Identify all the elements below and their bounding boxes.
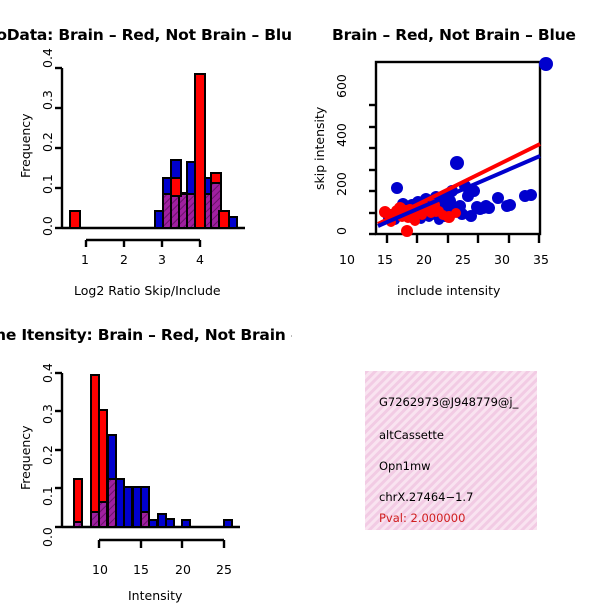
ratio-hist-plot xyxy=(0,0,300,300)
intensity-hist-xaxis xyxy=(99,540,224,548)
infobox-event-id: G7262973@J948779@j_ xyxy=(379,395,518,409)
infobox-locus: chrX.27464−1.7 xyxy=(379,490,473,504)
panel-intensity-histogram: ne Itensity: Brain – Red, Not Brain – B … xyxy=(0,300,300,600)
intensity-hist-plot xyxy=(0,300,300,600)
annotation-infobox: G7262973@J948779@j_ altCassette Opn1mw c… xyxy=(365,371,537,530)
ratio-hist-yaxis xyxy=(55,68,62,228)
ratio-hist-bars xyxy=(70,74,237,228)
intensity-hist-bars xyxy=(74,375,232,527)
infobox-pval: Pval: 2.000000 xyxy=(379,511,465,525)
figure-canvas: RatioData: Brain – Red, Not Brain – Blu … xyxy=(0,0,600,600)
panel-scatter: Brain – Red, Not Brain – Blue skip inten… xyxy=(300,0,600,310)
infobox-gene-symbol: Opn1mw xyxy=(379,459,431,473)
intensity-hist-yaxis xyxy=(55,373,62,527)
ratio-hist-xaxis xyxy=(86,240,200,247)
infobox-id-clip: G7262973@J948779@j_ xyxy=(365,395,533,413)
infobox-event-type: altCassette xyxy=(379,428,444,442)
panel-ratio-histogram: RatioData: Brain – Red, Not Brain – Blu … xyxy=(0,0,300,310)
scatter-plot xyxy=(300,0,600,300)
